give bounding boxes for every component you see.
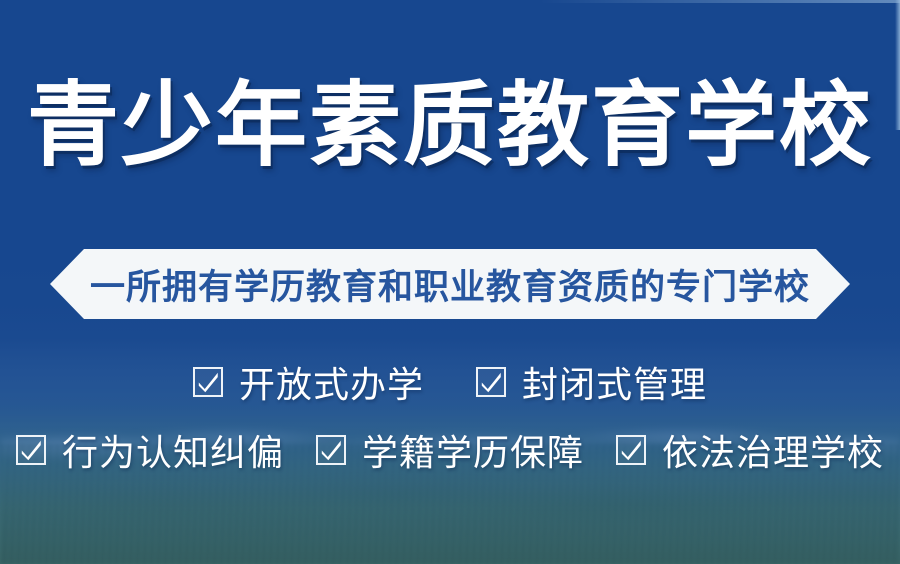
feature-label: 学籍学历保障 [362,424,584,476]
feature-item: 行为认知纠偏 [16,424,284,476]
checkbox-checked-icon [193,367,223,397]
checkbox-checked-icon [476,367,506,397]
page-title: 青少年素质教育学校 [0,78,900,176]
banner-label: 一所拥有学历教育和职业教育资质的专门学校 [50,249,850,319]
feature-item: 学籍学历保障 [316,424,584,476]
feature-item: 开放式办学 [193,356,424,408]
feature-row-2: 行为认知纠偏 学籍学历保障 依法治理学校 [0,424,900,476]
promotional-poster: 青少年素质教育学校 一所拥有学历教育和职业教育资质的专门学校 开放式办学 [0,0,900,564]
feature-item: 封闭式管理 [476,356,707,408]
feature-label: 开放式办学 [239,356,424,408]
feature-label: 封闭式管理 [522,356,707,408]
poster-content: 青少年素质教育学校 一所拥有学历教育和职业教育资质的专门学校 开放式办学 [0,0,900,564]
checkbox-checked-icon [16,435,46,465]
subtitle-banner: 一所拥有学历教育和职业教育资质的专门学校 [50,249,850,319]
checkbox-checked-icon [616,435,646,465]
checkbox-checked-icon [316,435,346,465]
feature-item: 依法治理学校 [616,424,884,476]
feature-label: 依法治理学校 [662,424,884,476]
feature-row-1: 开放式办学 封闭式管理 [0,356,900,408]
feature-label: 行为认知纠偏 [62,424,284,476]
